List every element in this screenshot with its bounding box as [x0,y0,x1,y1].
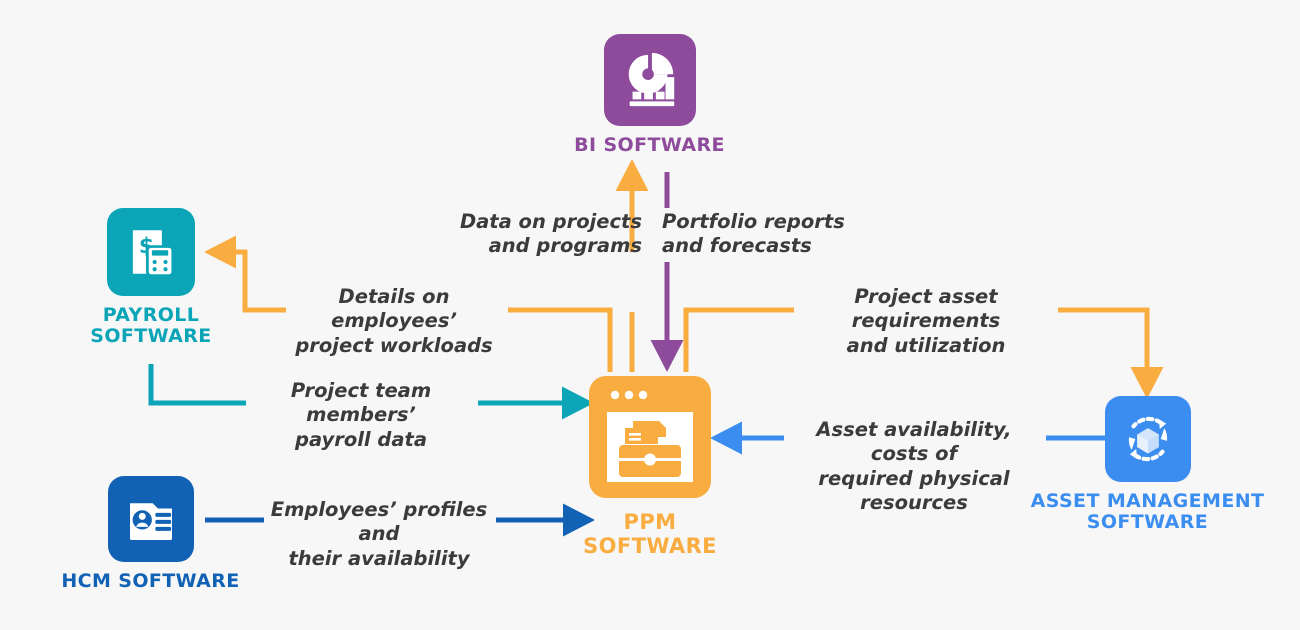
caption-project-team-members: Project team members’ payroll data [250,379,472,452]
node-hcm-software[interactable]: HCM SOFTWARE [58,476,243,592]
node-asset-label: ASSET MANAGEMENT SOFTWARE [1030,491,1265,534]
asset-cube-refresh-icon [1105,396,1191,482]
node-asset-label-line1: ASSET MANAGEMENT [1030,491,1265,512]
node-payroll-label-line1: PAYROLL [76,305,226,326]
caption-asset-availability: Asset availability, costs of required ph… [786,418,1042,516]
caption-project-asset-requirements: Project asset requirements and utilizati… [800,285,1052,358]
payroll-calculator-icon: $ [107,208,195,296]
caption-employees-profiles: Employees’ profiles and their availabili… [268,498,490,571]
caption-portfolio-reports: Portfolio reports and forecasts [662,210,862,259]
node-payroll-label-line2: SOFTWARE [76,326,226,347]
node-bi-label: BI SOFTWARE [552,135,747,156]
node-payroll-software[interactable]: $ PAYROLL SOFTWARE [76,208,226,348]
node-ppm-label-line1: PPM [555,511,745,535]
node-payroll-label: PAYROLL SOFTWARE [76,305,226,348]
caption-details-on-employees: Details on employees’ project workloads [286,285,502,358]
diagram-canvas: BI SOFTWARE $ PAYROLL SOFTWARE [0,0,1300,630]
node-asset-label-line2: SOFTWARE [1030,512,1265,533]
node-ppm-label-line2: SOFTWARE [555,535,745,559]
node-ppm-software[interactable]: PPM SOFTWARE [555,372,745,558]
hcm-profile-folder-icon [108,476,194,562]
ppm-briefcase-window-icon [585,372,715,502]
caption-data-on-projects: Data on projects and programs [446,210,642,259]
node-asset-management-software[interactable]: ASSET MANAGEMENT SOFTWARE [1030,396,1265,534]
node-bi-software[interactable]: BI SOFTWARE [552,34,747,156]
bi-chart-icon [604,34,696,126]
node-hcm-label: HCM SOFTWARE [58,571,243,592]
node-ppm-label: PPM SOFTWARE [555,511,745,558]
